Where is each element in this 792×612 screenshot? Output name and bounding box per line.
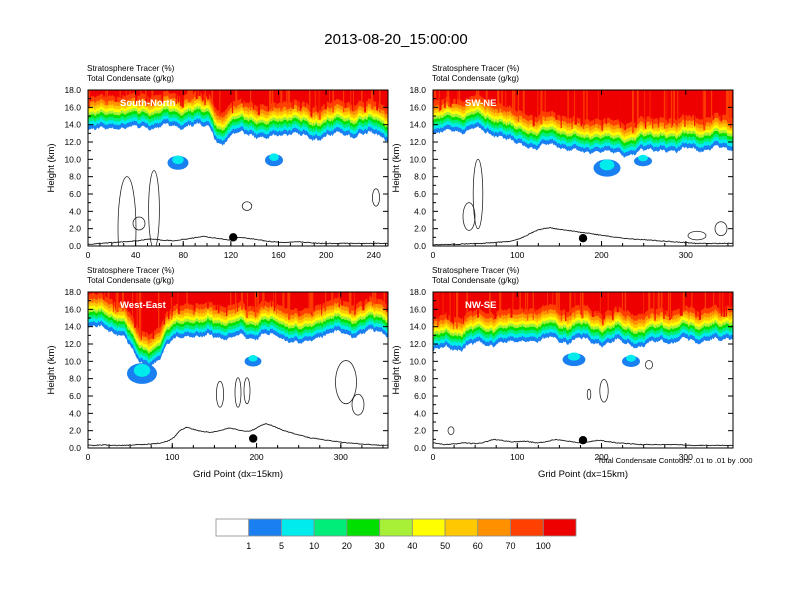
tracer-filament	[372, 292, 373, 307]
tracer-filament	[434, 90, 436, 104]
tracer-filament	[558, 292, 560, 312]
tracer-filament	[586, 90, 587, 123]
colorbar-cell-4	[347, 519, 380, 536]
y-tick-label: 2.0	[69, 224, 81, 234]
tracer-filament	[683, 292, 685, 312]
tracer-pocket-core	[248, 355, 257, 362]
tracer-filament	[630, 292, 632, 315]
tracer-filament	[444, 90, 446, 108]
tracer-filament	[523, 90, 525, 119]
tracer-filament	[219, 90, 220, 119]
tracer-filament	[717, 292, 719, 308]
tracer-filament	[158, 292, 159, 331]
tracer-filament	[447, 90, 448, 104]
tracer-filament	[274, 292, 275, 311]
tracer-filament	[705, 292, 706, 312]
tracer-filament	[299, 292, 300, 317]
y-tick-label: 6.0	[414, 189, 426, 199]
y-tick-label: 6.0	[69, 391, 81, 401]
tracer-filament	[364, 90, 366, 112]
x-tick-label: 40	[131, 250, 141, 260]
colorbar-tick-label: 60	[473, 541, 483, 551]
tracer-filament	[552, 292, 553, 307]
colorbar-tick-label: 70	[506, 541, 516, 551]
tracer-filament	[695, 292, 696, 318]
tracer-filament	[677, 90, 678, 127]
tracer-filament	[103, 90, 104, 97]
x-tick-label: 100	[510, 250, 524, 260]
tracer-filament	[443, 292, 444, 323]
tracer-filament	[106, 90, 108, 105]
tracer-filament	[658, 292, 660, 315]
tracer-filament	[501, 90, 502, 113]
panel-header-tracer: Stratosphere Tracer (%)	[432, 266, 520, 275]
tracer-filament	[341, 292, 343, 305]
tracer-filament	[605, 90, 606, 123]
tracer-filament	[384, 292, 385, 309]
tracer-filament	[448, 90, 449, 107]
tracer-filament	[258, 90, 260, 115]
tracer-filament	[452, 292, 454, 324]
tracer-filament	[519, 292, 520, 311]
tracer-filament	[309, 292, 310, 314]
tracer-filament	[245, 292, 247, 310]
tracer-filament	[612, 292, 613, 318]
tracer-filament	[218, 292, 220, 313]
tracer-filament	[645, 90, 646, 119]
tracer-filament	[353, 90, 354, 111]
colorbar-tick-label: 20	[342, 541, 352, 551]
tracer-filament	[602, 292, 603, 325]
tracer-filament	[598, 90, 599, 129]
tracer-filament	[575, 90, 577, 125]
tracer-filament	[235, 90, 237, 108]
tracer-filament	[142, 292, 144, 331]
tracer-filament	[719, 90, 720, 117]
x-tick-label: 100	[510, 452, 524, 462]
tracer-filament	[371, 90, 373, 109]
tracer-filament	[608, 292, 609, 318]
tracer-filament	[116, 292, 117, 314]
tracer-filament	[713, 90, 714, 120]
tracer-filament	[694, 90, 695, 126]
y-tick-label: 10.0	[64, 154, 81, 164]
x-tick-label: 80	[179, 250, 189, 260]
tracer-filament	[254, 292, 255, 312]
tracer-filament	[121, 90, 123, 98]
tracer-filament	[319, 90, 321, 110]
tracer-filament	[194, 292, 195, 310]
colorbar-tick-label: 5	[279, 541, 284, 551]
colorbar-cell-1	[249, 519, 282, 536]
y-tick-label: 18.0	[409, 85, 426, 95]
tracer-filament	[207, 90, 209, 100]
station-marker[interactable]	[249, 434, 257, 442]
tracer-filament	[450, 90, 452, 107]
tracer-filament	[177, 90, 179, 95]
tracer-filament	[343, 90, 344, 112]
tracer-filament	[377, 292, 378, 304]
y-tick-label: 0.0	[69, 241, 81, 251]
figure-canvas: 2013-08-20_15:00:00 Stratosphere Tracer …	[0, 0, 792, 612]
tracer-filament	[533, 90, 535, 126]
y-tick-label: 0.0	[69, 443, 81, 453]
tracer-filament	[719, 292, 720, 311]
tracer-filament	[601, 90, 602, 131]
tracer-filament	[523, 292, 524, 311]
tracer-filament	[437, 292, 439, 319]
tracer-filament	[625, 90, 626, 130]
y-tick-label: 2.0	[69, 426, 81, 436]
tracer-filament	[456, 292, 458, 329]
tracer-filament	[525, 292, 526, 311]
tracer-filament	[721, 292, 723, 316]
tracer-filament	[684, 90, 685, 127]
tracer-filament	[186, 292, 187, 307]
tracer-filament	[137, 292, 138, 334]
tracer-filament	[459, 90, 460, 106]
y-tick-label: 18.0	[64, 85, 81, 95]
tracer-filament	[207, 292, 209, 309]
tracer-filament	[276, 292, 277, 306]
tracer-filament	[534, 292, 535, 311]
tracer-filament	[533, 292, 534, 320]
tracer-filament	[202, 90, 204, 101]
tracer-filament	[670, 292, 671, 319]
panel-label-west-east: West-East	[120, 300, 167, 311]
tracer-filament	[661, 292, 663, 309]
x-tick-label: 240	[367, 250, 381, 260]
tracer-filament	[721, 90, 723, 122]
y-tick-label: 6.0	[414, 391, 426, 401]
x-tick-label: 200	[594, 250, 608, 260]
tracer-filament	[205, 90, 206, 99]
panel-plot-area	[433, 292, 734, 448]
tracer-filament	[331, 292, 333, 304]
tracer-filament	[568, 90, 569, 123]
tracer-filament	[713, 292, 714, 312]
y-tick-label: 6.0	[69, 189, 81, 199]
tracer-filament	[561, 292, 562, 321]
tracer-filament	[654, 292, 655, 321]
tracer-filament	[510, 292, 512, 318]
tracer-filament	[310, 292, 312, 312]
tracer-filament	[648, 292, 650, 319]
tracer-filament	[367, 292, 369, 302]
tracer-filament	[105, 90, 106, 105]
colorbar-cell-3	[314, 519, 347, 536]
tracer-filament	[729, 292, 730, 309]
tracer-pocket-core	[568, 353, 581, 361]
tracer-filament	[513, 292, 514, 315]
tracer-filament	[252, 292, 253, 309]
y-tick-label: 16.0	[64, 304, 81, 314]
tracer-filament	[139, 292, 141, 337]
y-tick-label: 18.0	[64, 287, 81, 297]
panel-west-east[interactable]: Stratosphere Tracer (%)Total Condensate …	[46, 266, 388, 480]
tracer-filament	[310, 90, 311, 117]
tracer-filament	[673, 90, 675, 121]
tracer-filament	[286, 90, 288, 110]
panel-label-nw-se: NW-SE	[465, 300, 496, 311]
tracer-filament	[727, 90, 729, 119]
y-tick-label: 2.0	[414, 426, 426, 436]
tracer-filament	[329, 90, 330, 110]
y-tick-label: 14.0	[64, 120, 81, 130]
tracer-filament	[451, 90, 453, 103]
tracer-filament	[703, 90, 704, 122]
tracer-filament	[211, 90, 213, 105]
x-tick-label: 120	[224, 250, 238, 260]
y-tick-label: 10.0	[409, 154, 426, 164]
tracer-filament	[450, 292, 451, 318]
contour-caption: Total Condensate Contours: .01 to .01 by…	[598, 456, 753, 465]
x-tick-label: 200	[249, 452, 263, 462]
tracer-filament	[625, 292, 626, 319]
tracer-filament	[555, 90, 556, 120]
tracer-filament	[196, 90, 198, 99]
panel-nw-se[interactable]: Stratosphere Tracer (%)Total Condensate …	[391, 266, 734, 480]
tracer-filament	[463, 292, 464, 320]
tracer-filament	[691, 292, 692, 313]
tracer-filament	[271, 292, 272, 307]
colorbar-cell-2	[281, 519, 314, 536]
panel-plot-area	[88, 292, 388, 448]
tracer-filament	[235, 292, 236, 313]
tracer-filament	[499, 292, 501, 317]
tracer-filament	[658, 90, 659, 127]
tracer-filament	[643, 292, 644, 319]
y-tick-label: 8.0	[414, 374, 426, 384]
tracer-filament	[351, 292, 352, 307]
tracer-filament	[325, 292, 326, 310]
tracer-filament	[434, 292, 436, 318]
panel-sw-ne[interactable]: Stratosphere Tracer (%)Total Condensate …	[391, 64, 733, 260]
x-tick-label: 300	[679, 250, 693, 260]
tracer-filament	[321, 292, 322, 315]
tracer-filament	[518, 90, 519, 122]
x-axis-label: Grid Point (dx=15km)	[193, 469, 283, 480]
tracer-filament	[191, 90, 193, 98]
tracer-filament	[730, 90, 732, 128]
y-tick-label: 16.0	[409, 102, 426, 112]
tracer-filament	[176, 90, 177, 104]
tracer-filament	[456, 90, 458, 104]
y-tick-label: 14.0	[409, 322, 426, 332]
tracer-filament	[664, 90, 665, 129]
colorbar-cell-0	[216, 519, 249, 536]
tracer-filament	[622, 292, 623, 315]
tracer-filament	[253, 90, 254, 110]
y-axis-label: Height (km)	[391, 143, 402, 192]
tracer-filament	[512, 90, 514, 115]
tracer-filament	[305, 90, 306, 106]
tracer-filament	[108, 292, 110, 304]
x-tick-label: 200	[319, 250, 333, 260]
tracer-filament	[527, 292, 528, 321]
tracer-filament	[723, 292, 725, 317]
tracer-filament	[632, 90, 634, 133]
tracer-filament	[232, 90, 233, 113]
y-axis-label: Height (km)	[46, 345, 57, 394]
x-tick-label: 300	[334, 452, 348, 462]
y-tick-label: 4.0	[414, 408, 426, 418]
y-tick-label: 16.0	[64, 102, 81, 112]
tracer-filament	[301, 90, 302, 109]
tracer-filament	[349, 292, 350, 313]
tracer-filament	[332, 90, 334, 113]
tracer-filament	[339, 292, 340, 304]
tracer-filament	[561, 90, 562, 128]
tracer-filament	[226, 292, 227, 316]
y-tick-label: 8.0	[69, 172, 81, 182]
tracer-filament	[317, 90, 319, 112]
tracer-filament	[704, 90, 705, 130]
y-tick-label: 14.0	[64, 322, 81, 332]
tracer-filament	[594, 90, 595, 125]
tracer-pocket-core	[626, 355, 636, 362]
tracer-filament	[315, 90, 316, 110]
x-tick-label: 0	[86, 452, 91, 462]
tracer-filament	[117, 292, 119, 312]
tracer-filament	[569, 292, 571, 313]
tracer-filament	[313, 292, 315, 310]
panel-label-sw-ne: SW-NE	[465, 98, 496, 109]
tracer-filament	[547, 292, 548, 313]
tracer-filament	[216, 292, 218, 310]
tracer-filament	[458, 90, 459, 105]
tracer-filament	[583, 90, 584, 124]
tracer-filament	[257, 292, 259, 313]
panel-plot-area	[433, 90, 733, 246]
colorbar-tick-label: 50	[440, 541, 450, 551]
station-marker[interactable]	[579, 234, 587, 242]
tracer-filament	[243, 90, 244, 108]
y-tick-label: 0.0	[414, 443, 426, 453]
y-tick-label: 8.0	[414, 172, 426, 182]
panel-header-tracer: Stratosphere Tracer (%)	[87, 64, 175, 73]
x-tick-label: 100	[165, 452, 179, 462]
tracer-filament	[292, 90, 293, 109]
tracer-filament	[440, 90, 442, 110]
tracer-pocket-core	[600, 160, 615, 171]
station-marker[interactable]	[229, 233, 237, 241]
tracer-filament	[92, 292, 93, 303]
colorbar-tick-label: 30	[375, 541, 385, 551]
tracer-filament	[540, 90, 542, 125]
tracer-filament	[672, 90, 673, 126]
colorbar-cell-10	[543, 519, 576, 536]
x-tick-label: 0	[431, 250, 436, 260]
tracer-filament	[726, 292, 727, 317]
panel-header-condensate: Total Condensate (g/kg)	[432, 74, 519, 83]
tracer-filament	[180, 90, 181, 106]
panel-header-condensate: Total Condensate (g/kg)	[87, 74, 174, 83]
station-marker[interactable]	[579, 436, 587, 444]
tracer-pocket-core	[269, 153, 279, 161]
tracer-filament	[262, 292, 264, 308]
tracer-filament	[635, 90, 637, 128]
panel-header-tracer: Stratosphere Tracer (%)	[87, 266, 175, 275]
y-tick-label: 4.0	[69, 206, 81, 216]
tracer-filament	[580, 292, 581, 315]
tracer-filament	[115, 90, 117, 102]
tracer-filament	[545, 90, 546, 121]
panel-label-south-north: South-North	[120, 98, 176, 109]
y-tick-label: 12.0	[409, 339, 426, 349]
y-tick-label: 0.0	[414, 241, 426, 251]
colorbar-cell-9	[511, 519, 544, 536]
tracer-filament	[575, 292, 576, 318]
y-tick-label: 4.0	[69, 408, 81, 418]
y-tick-label: 4.0	[414, 206, 426, 216]
tracer-filament	[270, 90, 272, 111]
tracer-filament	[600, 292, 601, 315]
colorbar-tick-label: 1	[246, 541, 251, 551]
colorbar-cell-6	[412, 519, 445, 536]
panel-header-tracer: Stratosphere Tracer (%)	[432, 64, 520, 73]
tracer-filament	[104, 292, 105, 301]
tracer-filament	[446, 292, 448, 320]
tracer-pocket-core	[134, 364, 151, 377]
tracer-filament	[597, 292, 598, 313]
tracer-filament	[582, 292, 584, 318]
tracer-filament	[667, 90, 668, 122]
tracer-filament	[361, 90, 363, 105]
colorbar-tick-label: 10	[309, 541, 319, 551]
tracer-filament	[245, 90, 247, 103]
tracer-filament	[582, 90, 583, 124]
tracer-filament	[230, 292, 231, 306]
x-tick-label: 160	[271, 250, 285, 260]
colorbar-tick-label: 100	[536, 541, 551, 551]
tracer-pocket-core	[638, 155, 648, 162]
colorbar-cell-7	[445, 519, 478, 536]
panel-header-condensate: Total Condensate (g/kg)	[432, 276, 519, 285]
tracer-filament	[565, 292, 566, 321]
tracer-filament	[293, 90, 294, 109]
tracer-filament	[550, 90, 551, 116]
y-axis-label: Height (km)	[46, 143, 57, 192]
tracer-filament	[680, 292, 682, 316]
tracer-filament	[538, 90, 539, 121]
tracer-filament	[373, 292, 374, 303]
y-tick-label: 14.0	[409, 120, 426, 130]
tracer-filament	[497, 90, 499, 109]
y-tick-label: 18.0	[409, 287, 426, 297]
tracer-filament	[572, 90, 573, 129]
tracer-filament	[113, 292, 114, 312]
tracer-filament	[354, 292, 355, 316]
y-axis-label: Height (km)	[391, 345, 402, 394]
tracer-filament	[711, 90, 712, 124]
tracer-filament	[617, 292, 619, 312]
tracer-filament	[237, 292, 238, 311]
tracer-filament	[272, 90, 274, 111]
x-axis-label: Grid Point (dx=15km)	[538, 469, 628, 480]
colorbar-tick-label: 40	[407, 541, 417, 551]
tracer-filament	[280, 90, 282, 111]
tracer-filament	[637, 90, 639, 122]
tracer-filament	[514, 90, 515, 116]
y-tick-label: 10.0	[64, 356, 81, 366]
tracer-filament	[345, 90, 346, 108]
tracer-filament	[652, 90, 653, 129]
y-tick-label: 16.0	[409, 304, 426, 314]
y-tick-label: 10.0	[409, 356, 426, 366]
y-tick-label: 12.0	[64, 137, 81, 147]
tracer-filament	[362, 292, 364, 310]
